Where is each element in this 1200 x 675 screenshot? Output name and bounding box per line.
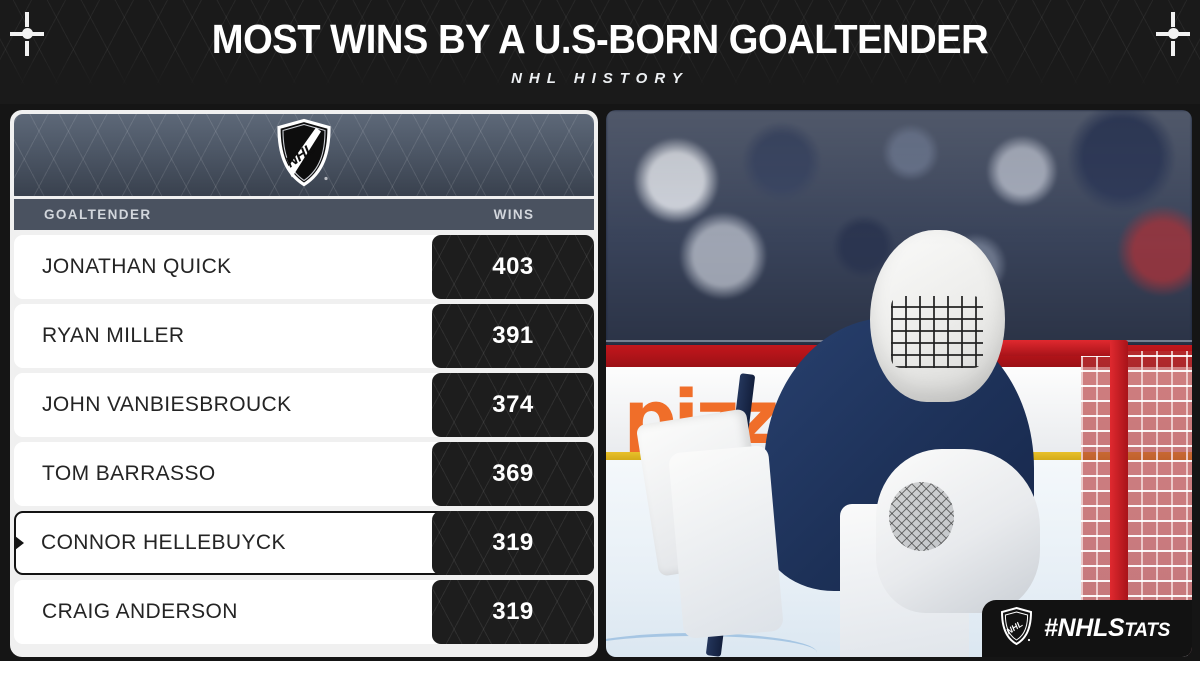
badge-s: S xyxy=(1108,614,1124,642)
row-wins-value: 319 xyxy=(492,529,534,557)
table-rows: JONATHAN QUICK 403 RYAN MILLER 391 JOHN … xyxy=(14,235,594,644)
nhl-shield-outline-icon: NHL xyxy=(1000,606,1033,651)
row-goaltender-name: CRAIG ANDERSON xyxy=(42,600,238,624)
row-goaltender-name: JONATHAN QUICK xyxy=(42,255,232,279)
table-row-highlighted[interactable]: CONNOR HELLEBUYCK 319 xyxy=(14,511,594,575)
row-wins-block: 369 xyxy=(432,442,594,506)
row-wins-block: 319 xyxy=(432,580,594,644)
nhl-shield-logo-icon: NHL xyxy=(276,119,332,192)
nhlstats-badge-text: #NHLSTATS xyxy=(1044,614,1170,643)
crosshair-registration-icon-left xyxy=(10,12,44,56)
row-wins-value: 391 xyxy=(492,322,534,350)
row-pointer-triangle-icon xyxy=(15,536,24,550)
row-goaltender-name: RYAN MILLER xyxy=(42,324,185,348)
table-row[interactable]: JONATHAN QUICK 403 xyxy=(14,235,594,299)
table-row[interactable]: JOHN VANBIESBROUCK 374 xyxy=(14,373,594,437)
page-title: MOST WINS BY A U.S-BORN GOALTENDER xyxy=(42,16,1158,63)
row-wins-block: 319 xyxy=(432,511,594,575)
row-wins-value: 319 xyxy=(492,598,534,626)
crosshair-registration-icon-right xyxy=(1156,12,1190,56)
stats-table-panel: NHL GOALTENDER WINS JONATHAN QUICK 403 R… xyxy=(10,110,598,657)
row-wins-block: 374 xyxy=(432,373,594,437)
panel-logo-banner: NHL xyxy=(14,114,594,196)
column-header-wins: WINS xyxy=(433,207,595,222)
row-wins-value: 403 xyxy=(492,253,534,281)
nhlstats-badge: NHL #NHLSTATS xyxy=(982,600,1192,657)
row-wins-block: 403 xyxy=(432,235,594,299)
row-wins-block: 391 xyxy=(432,304,594,368)
page-subtitle: NHL HISTORY xyxy=(0,70,1200,87)
header-bar: MOST WINS BY A U.S-BORN GOALTENDER NHL H… xyxy=(0,0,1200,104)
goaltender-photo: pizza xyxy=(606,110,1192,657)
table-column-headers: GOALTENDER WINS xyxy=(14,199,594,230)
bottom-white-strip xyxy=(0,661,1200,675)
row-wins-value: 374 xyxy=(492,391,534,419)
row-goaltender-name: JOHN VANBIESBROUCK xyxy=(42,393,292,417)
svg-text:NHL: NHL xyxy=(1004,619,1024,637)
badge-hash-nhl: #NHL xyxy=(1044,614,1108,642)
table-row[interactable]: RYAN MILLER 391 xyxy=(14,304,594,368)
row-goaltender-name: TOM BARRASSO xyxy=(42,462,216,486)
table-row[interactable]: CRAIG ANDERSON 319 xyxy=(14,580,594,644)
table-row[interactable]: TOM BARRASSO 369 xyxy=(14,442,594,506)
photo-vignette xyxy=(606,110,1192,657)
badge-tats: TATS xyxy=(1124,620,1170,641)
row-wins-value: 369 xyxy=(492,460,534,488)
column-header-goaltender: GOALTENDER xyxy=(44,207,152,222)
row-goaltender-name: CONNOR HELLEBUYCK xyxy=(41,531,286,555)
graphic-canvas: MOST WINS BY A U.S-BORN GOALTENDER NHL H… xyxy=(0,0,1200,675)
